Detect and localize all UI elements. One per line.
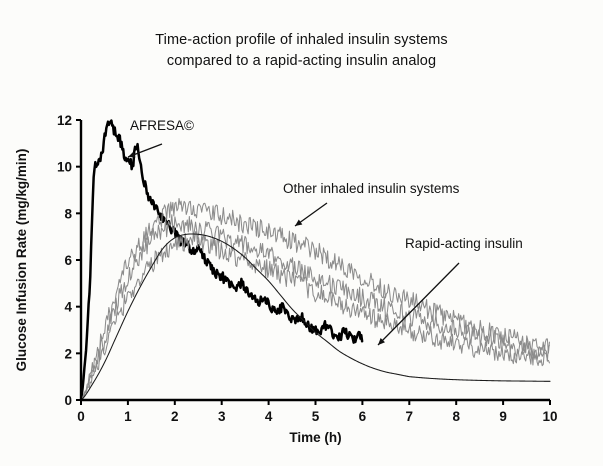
x-tick-label: 8 (452, 409, 460, 424)
x-tick-label: 3 (218, 409, 226, 424)
chart-svg: 012345678910024681012Time (h)Glucose Inf… (0, 0, 603, 466)
annotation-other-inhaled-arrow-head (295, 220, 302, 226)
x-tick-label: 4 (265, 409, 273, 424)
x-tick-label: 2 (171, 409, 179, 424)
y-tick-label: 4 (64, 300, 72, 315)
y-tick-label: 2 (64, 346, 72, 361)
x-tick-label: 0 (77, 409, 85, 424)
y-tick-label: 8 (64, 206, 72, 221)
annotation-other-inhaled: Other inhaled insulin systems (283, 181, 460, 196)
y-tick-label: 10 (57, 160, 72, 175)
y-tick-label: 0 (64, 393, 72, 408)
y-tick-label: 12 (57, 113, 72, 128)
y-tick-label: 6 (64, 253, 72, 268)
svg-text:Glucose Infusion Rate (mg/kg/m: Glucose Infusion Rate (mg/kg/min) (14, 149, 29, 372)
x-tick-label: 5 (312, 409, 320, 424)
y-axis-title: Glucose Infusion Rate (mg/kg/min) (14, 149, 29, 372)
x-tick-label: 9 (499, 409, 507, 424)
chart-figure: Time-action profile of inhaled insulin s… (0, 0, 603, 466)
x-tick-label: 7 (406, 409, 414, 424)
series-line-1 (81, 121, 362, 400)
x-axis-title: Time (h) (289, 430, 341, 445)
annotation-rapid-acting: Rapid-acting insulin (405, 236, 523, 251)
x-tick-label: 10 (542, 409, 557, 424)
annotation-afresa: AFRESA© (130, 118, 194, 133)
series-line-2 (81, 198, 549, 400)
x-tick-label: 6 (359, 409, 367, 424)
x-tick-label: 1 (124, 409, 132, 424)
